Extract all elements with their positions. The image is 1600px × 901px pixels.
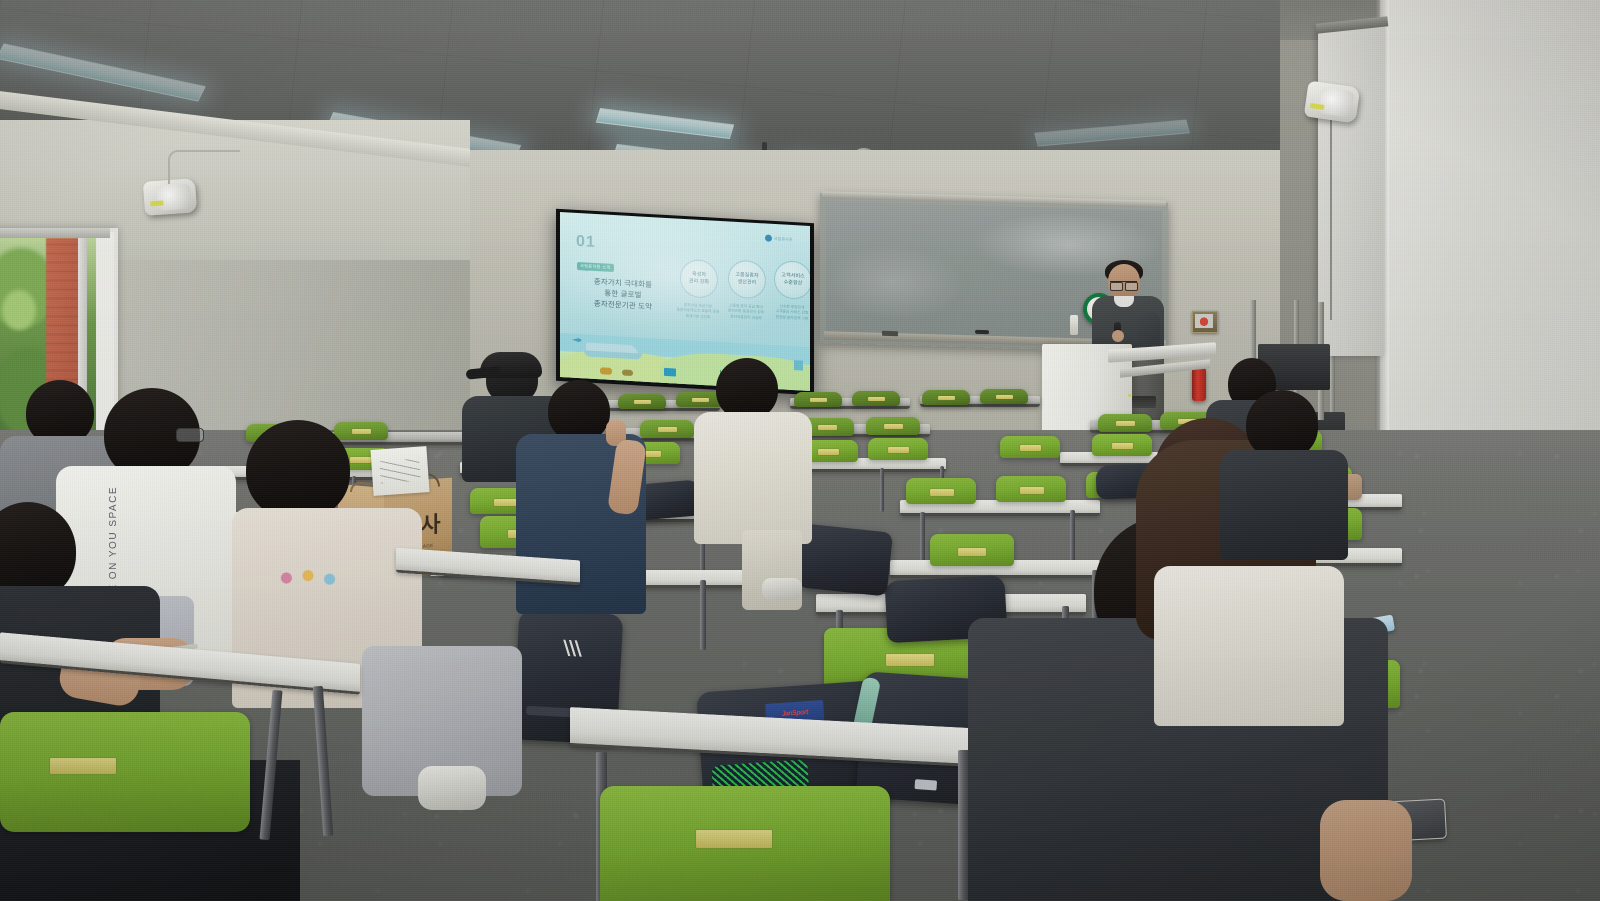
left-speaker-cable — [168, 150, 240, 184]
chair-b-2[interactable] — [334, 422, 388, 440]
projection-screen: 국립종자원 01 국립종자원 소개 비전 종자가치 극대화를 통한 글로벌 종자… — [560, 212, 810, 391]
speaker-grill-icon-right — [1318, 87, 1354, 117]
lecture-hall-photo: 국립종자원 01 국립종자원 소개 비전 종자가치 극대화를 통한 글로벌 종자… — [0, 0, 1600, 901]
fire-extinguisher — [1192, 367, 1206, 401]
student-longhair-torso — [1154, 566, 1344, 726]
desk-leg — [1070, 510, 1075, 566]
slide-pillar-circle-1: 육성자 권리 강화 — [680, 259, 718, 299]
slide-logo-text: 국립종자원 — [774, 235, 792, 242]
window-top-rail — [0, 228, 110, 238]
chair-certification-sticker — [996, 395, 1013, 399]
chair-e-2[interactable] — [930, 534, 1014, 566]
chair-certification-sticker — [886, 654, 934, 666]
chair-foreground-bottom[interactable] — [600, 786, 890, 901]
chair-c-5[interactable] — [868, 438, 928, 460]
slide-pillar-circle-3: 고객서비스 수준향상 — [774, 260, 810, 300]
pillar-3-title: 고객서비스 수준향상 — [781, 272, 804, 287]
slide-pillar-circle-2: 고품질종자 생산관리 — [728, 259, 766, 299]
adidas-logo-icon — [559, 640, 586, 657]
chair-c-6[interactable] — [1000, 436, 1060, 458]
chair-certification-sticker — [810, 398, 827, 402]
glasses-lens-right — [1125, 282, 1138, 291]
framed-picture-image — [1195, 314, 1213, 328]
student-navy-head — [548, 380, 610, 442]
slide-logo: 국립종자원 — [765, 234, 792, 243]
chair-b-3[interactable] — [640, 420, 694, 438]
chair-certification-sticker — [884, 424, 903, 429]
speaker-label — [150, 200, 163, 206]
chair-certification-sticker — [634, 400, 651, 404]
whiteboard-eraser — [882, 331, 898, 336]
presenter-hand — [1112, 330, 1124, 342]
slide-pillar-body-3: 신속한 재정공개 고객중심 서비스 강화 현장형 종자정책 구현 — [763, 303, 810, 322]
slide-eyebrow: 비전 — [580, 266, 588, 272]
window-blind-right[interactable] — [1318, 26, 1384, 356]
chair-certification-sticker — [868, 397, 885, 401]
podium-control-panel[interactable] — [1132, 396, 1156, 408]
chair-a-5[interactable] — [922, 390, 970, 405]
podium-led-1 — [1128, 394, 1131, 397]
student-white-tee-torso — [694, 412, 812, 544]
chair-certification-sticker — [658, 427, 677, 432]
chair-certification-sticker — [1112, 443, 1133, 449]
chair-certification-sticker — [888, 447, 909, 453]
speaker-grill-icon — [156, 184, 192, 211]
chair-d-3[interactable] — [906, 478, 976, 504]
chair-certification-sticker — [352, 429, 371, 434]
slide-logo-mark-icon — [765, 234, 772, 241]
chair-certification-sticker — [818, 449, 839, 455]
student-sneaker — [762, 578, 802, 600]
chair-a-4[interactable] — [852, 391, 900, 406]
paper-in-bag — [370, 446, 429, 496]
student-beige-embroidery — [272, 566, 344, 590]
whiteboard-marker — [975, 330, 989, 334]
student-beige-head — [246, 420, 350, 520]
chair-a-3[interactable] — [794, 392, 842, 407]
chair-certification-sticker — [1116, 421, 1135, 426]
right-wall-speaker — [1304, 81, 1361, 124]
chair-certification-sticker — [958, 548, 986, 556]
illus-cow-icon — [600, 367, 612, 375]
backpack-buckle — [914, 779, 937, 791]
tree-highlight — [2, 290, 36, 330]
chair-certification-sticker — [696, 830, 772, 848]
chair-a-6[interactable] — [980, 389, 1028, 404]
pillar-2-title: 고품질종자 생산관리 — [735, 272, 758, 287]
desk-leg — [700, 580, 706, 650]
chair-c-7[interactable] — [1092, 434, 1152, 456]
illus-cow-icon-2 — [622, 369, 633, 376]
backpack-brand-text: JanSport — [781, 709, 808, 718]
chair-foreground-left[interactable] — [0, 712, 250, 832]
illus-truck-icon — [664, 368, 676, 377]
pillar-1-title: 육성자 권리 강화 — [689, 271, 709, 286]
chair-b-6[interactable] — [1098, 414, 1152, 432]
glasses-lens-left — [1110, 282, 1123, 291]
chair-certification-sticker — [1020, 487, 1044, 494]
slide-headline: 종자가치 극대화를 통한 글로벌 종자전문기관 도약 — [568, 274, 678, 313]
student-white-tee-head — [716, 358, 778, 420]
podium-water-bottle — [1070, 315, 1078, 335]
chair-certification-sticker — [692, 398, 709, 402]
chair-b-5[interactable] — [866, 417, 920, 435]
chair-certification-sticker — [1020, 445, 1041, 451]
chair-d-4[interactable] — [996, 476, 1066, 502]
chair-certification-sticker — [818, 425, 837, 430]
illus-building-icon — [794, 360, 803, 371]
presenter-glasses-icon — [1110, 281, 1137, 289]
paper-ink-marks — [379, 459, 420, 484]
speaker-label-right — [1310, 103, 1325, 110]
student-front-right-arm — [1320, 800, 1412, 901]
student-beige-shoe — [418, 766, 486, 810]
chair-certification-sticker — [930, 489, 954, 496]
blind-chain[interactable] — [1330, 120, 1332, 320]
student-glasses-icon — [176, 428, 204, 442]
chair-certification-sticker — [938, 396, 955, 400]
chair-certification-sticker — [494, 499, 518, 506]
chair-certification-sticker — [50, 758, 116, 774]
desk-leg — [880, 468, 884, 512]
chair-a-1[interactable] — [618, 394, 666, 409]
student-right-mid-torso — [1220, 450, 1348, 560]
slide-number: 01 — [576, 233, 596, 252]
chair-certification-sticker — [350, 457, 371, 463]
